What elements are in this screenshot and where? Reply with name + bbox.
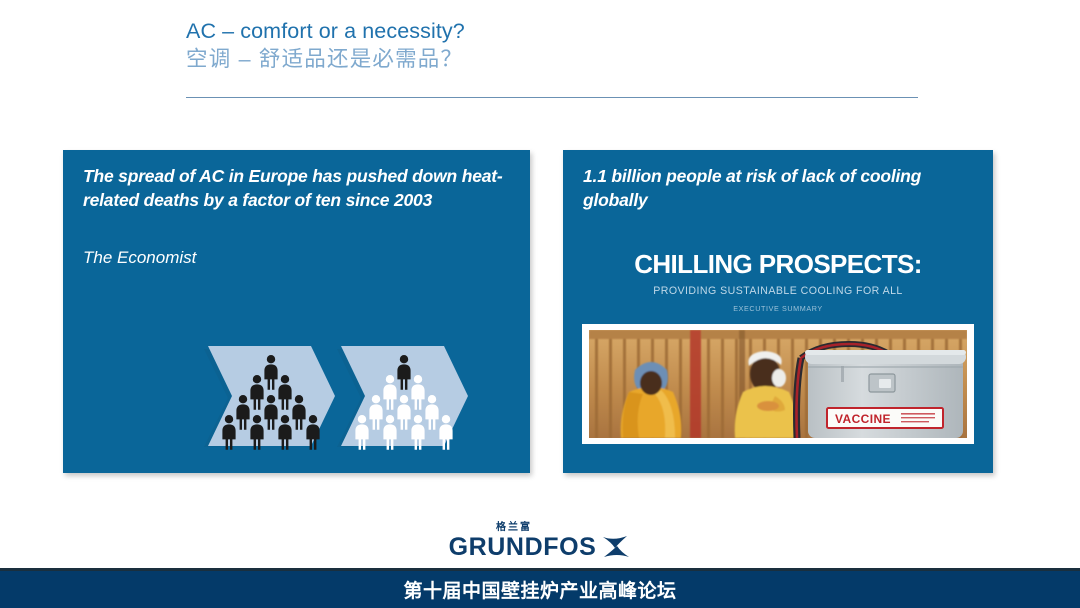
report-cover-photo: VACCINE <box>589 330 967 438</box>
report-cover-subtitle: PROVIDING SUSTAINABLE COOLING FOR ALL <box>563 285 993 297</box>
report-cover-note: EXECUTIVE SUMMARY <box>563 304 993 313</box>
people-pyramid-chevrons-graphic <box>204 343 472 453</box>
right-quote-panel: 1.1 billion people at risk of lack of co… <box>563 150 993 473</box>
title-divider <box>186 97 918 98</box>
grundfos-mark-icon <box>601 535 631 559</box>
grundfos-logo: 格兰富 GRUNDFOS <box>0 522 1080 564</box>
left-panel-quote: The spread of AC in Europe has pushed do… <box>83 164 514 212</box>
right-panel-quote: 1.1 billion people at risk of lack of co… <box>583 164 977 212</box>
grundfos-logo-wordmark: GRUNDFOS <box>449 534 597 560</box>
report-cover-image: CHILLING PROSPECTS: PROVIDING SUSTAINABL… <box>563 235 993 473</box>
vaccine-label-text: VACCINE <box>835 412 891 426</box>
report-cover-title: CHILLING PROSPECTS: <box>563 249 993 280</box>
page-title-english: AC – comfort or a necessity? <box>186 18 926 45</box>
bottom-event-bar: 第十届中国壁挂炉产业高峰论坛 <box>0 568 1080 608</box>
bottom-event-bar-text: 第十届中国壁挂炉产业高峰论坛 <box>403 576 676 603</box>
page-title-chinese: 空调 – 舒适品还是必需品？ <box>186 45 926 74</box>
grundfos-logo-chinese: 格兰富 <box>0 522 1080 533</box>
page-title: AC – comfort or a necessity? 空调 – 舒适品还是必… <box>186 18 926 74</box>
left-panel-source: The Economist <box>83 247 196 269</box>
left-quote-panel: The spread of AC in Europe has pushed do… <box>63 150 530 473</box>
report-cover-photo-frame: VACCINE <box>582 324 974 444</box>
